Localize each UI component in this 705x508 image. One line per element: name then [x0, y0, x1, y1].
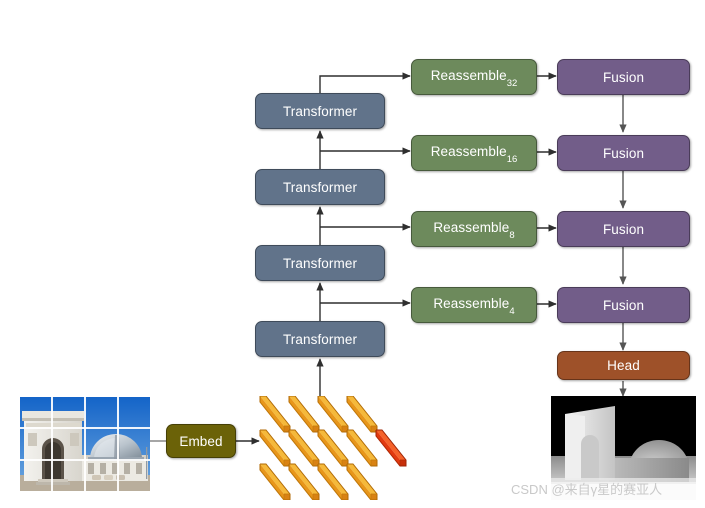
reassemble-label: Reassemble — [433, 220, 509, 235]
reassemble-subscript: 4 — [509, 306, 514, 317]
transformer-block-3[interactable]: Transformer — [255, 169, 385, 205]
reassemble-subscript: 32 — [507, 78, 518, 89]
diagram-canvas: Embed — [0, 0, 705, 508]
reassemble-label: Reassemble — [431, 68, 507, 83]
reassemble-label: Reassemble — [431, 144, 507, 159]
csdn-watermark: CSDN @来自γ星的赛亚人 — [511, 479, 662, 498]
patch-grid-overlay — [20, 397, 150, 491]
embed-label: Embed — [179, 434, 222, 449]
transformer-label: Transformer — [283, 104, 357, 119]
fusion-block-2[interactable]: Fusion — [557, 135, 690, 171]
reassemble-block-32[interactable]: Reassemble32 — [411, 59, 537, 95]
input-photo-observatory — [20, 397, 150, 491]
fusion-block-1[interactable]: Fusion — [557, 59, 690, 95]
fusion-label: Fusion — [603, 222, 644, 237]
transformer-label: Transformer — [283, 256, 357, 271]
transformer-block-2[interactable]: Transformer — [255, 245, 385, 281]
fusion-block-3[interactable]: Fusion — [557, 211, 690, 247]
patch-token-grid — [258, 396, 410, 500]
head-block[interactable]: Head — [557, 351, 690, 380]
transformer-label: Transformer — [283, 180, 357, 195]
embed-block[interactable]: Embed — [166, 424, 236, 458]
reassemble-block-16[interactable]: Reassemble16 — [411, 135, 537, 171]
head-label: Head — [607, 358, 640, 373]
fusion-block-4[interactable]: Fusion — [557, 287, 690, 323]
transformer-block-1[interactable]: Transformer — [255, 321, 385, 357]
fusion-label: Fusion — [603, 146, 644, 161]
reassemble-subscript: 8 — [509, 230, 514, 241]
reassemble-label: Reassemble — [433, 296, 509, 311]
fusion-label: Fusion — [603, 70, 644, 85]
reassemble-block-4[interactable]: Reassemble4 — [411, 287, 537, 323]
transformer-label: Transformer — [283, 332, 357, 347]
transformer-block-4[interactable]: Transformer — [255, 93, 385, 129]
reassemble-subscript: 16 — [507, 154, 518, 165]
reassemble-block-8[interactable]: Reassemble8 — [411, 211, 537, 247]
fusion-label: Fusion — [603, 298, 644, 313]
